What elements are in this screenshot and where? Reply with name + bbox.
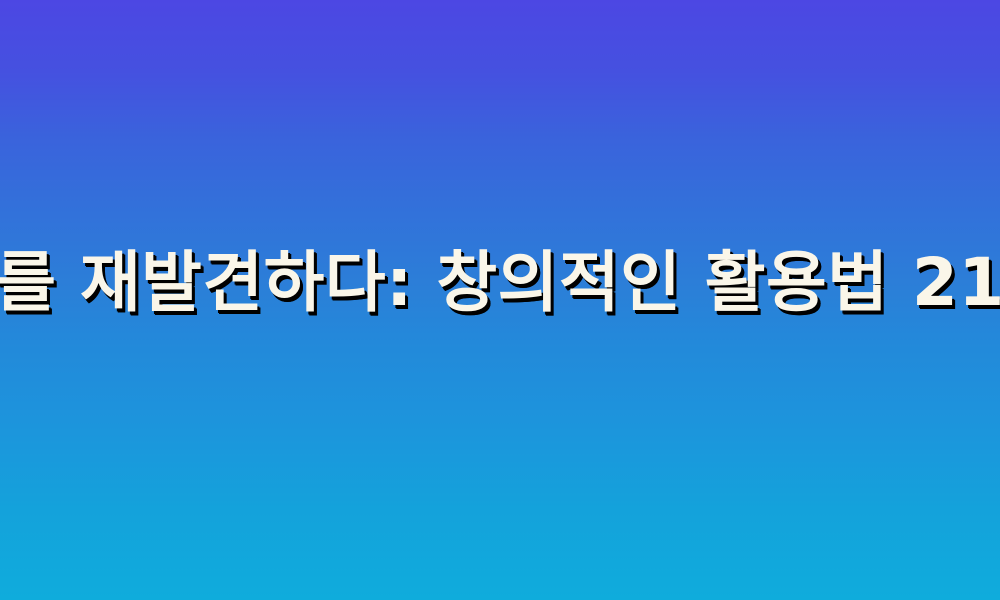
- banner-headline: 도구를 재발견하다: 창의적인 활용법 21가지: [0, 248, 1000, 317]
- gradient-banner: 도구를 재발견하다: 창의적인 활용법 21가지: [0, 0, 1000, 600]
- headline-row: 도구를 재발견하다: 창의적인 활용법 21가지: [0, 0, 1000, 600]
